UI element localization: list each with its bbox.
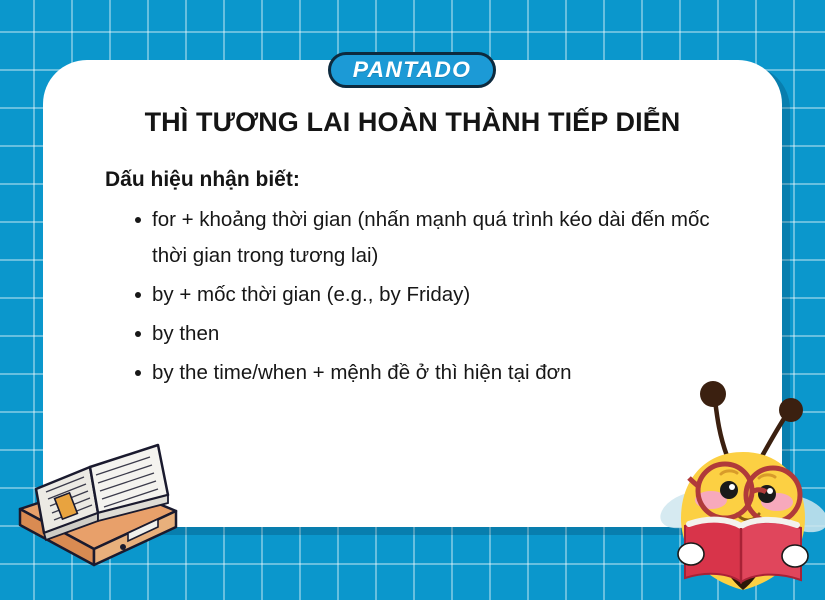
poster-canvas: PANTADO THÌ TƯƠNG LAI HOÀN THÀNH TIẾP DI… bbox=[0, 0, 825, 600]
bullet-dot-icon bbox=[135, 370, 141, 376]
list-item-text: by then bbox=[152, 322, 219, 345]
page-title: THÌ TƯƠNG LAI HOÀN THÀNH TIẾP DIỄN bbox=[43, 107, 782, 138]
bullet-dot-icon bbox=[135, 292, 141, 298]
list-item: for + khoảng thời gian (nhấn mạnh quá tr… bbox=[105, 202, 745, 274]
bee-reading-book-illustration bbox=[655, 378, 825, 600]
list-item: by the time/when + mệnh đề ở thì hiện tạ… bbox=[105, 355, 745, 391]
bullet-dot-icon bbox=[135, 217, 141, 223]
logo-text: PANTADO bbox=[353, 57, 471, 83]
list-item: by then bbox=[105, 316, 745, 352]
open-book-icon bbox=[678, 520, 808, 582]
bullet-dot-icon bbox=[135, 331, 141, 337]
list-item: by + mốc thời gian (e.g., by Friday) bbox=[105, 277, 745, 313]
list-item-text: for + khoảng thời gian (nhấn mạnh quá tr… bbox=[152, 208, 710, 267]
antennae-icon bbox=[700, 381, 803, 458]
list-item-text: by the time/when + mệnh đề ở thì hiện tạ… bbox=[152, 361, 571, 384]
section-heading: Dấu hiệu nhận biết: bbox=[105, 168, 745, 192]
signal-words-list: for + khoảng thời gian (nhấn mạnh quá tr… bbox=[105, 202, 745, 391]
pantado-logo-badge: PANTADO bbox=[328, 52, 496, 88]
books-illustration bbox=[8, 437, 183, 572]
lesson-content: Dấu hiệu nhận biết: for + khoảng thời gi… bbox=[105, 168, 745, 394]
list-item-text: by + mốc thời gian (e.g., by Friday) bbox=[152, 283, 470, 306]
